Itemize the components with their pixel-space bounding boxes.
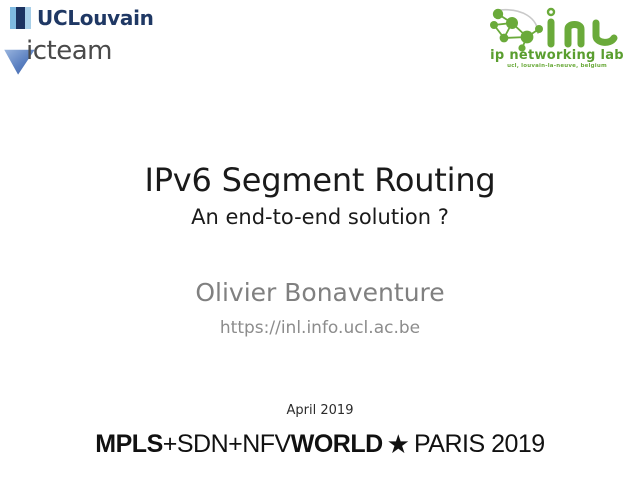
author-name: Olivier Bonaventure (0, 277, 640, 309)
inl-location: ucl, louvain-la-neuve, belgium (482, 63, 632, 69)
conference-sdn-nfv: +SDN+NFV (163, 430, 291, 459)
uclouvain-bar-dark (16, 7, 25, 29)
conference-mpls: MPLS (95, 430, 162, 459)
inl-wordmark-icon (544, 6, 632, 50)
author-block: Olivier Bonaventure https://inl.info.ucl… (0, 277, 640, 341)
conference-logo: MPLS+SDN+NFVWORLD★PARIS 2019 (0, 430, 640, 459)
uclouvain-wordmark: UCLouvain (37, 7, 154, 29)
slide-date: April 2019 (0, 403, 640, 418)
icteam-wordmark: icteam (26, 38, 112, 64)
slide-title: IPv6 Segment Routing (0, 160, 640, 200)
uclouvain-bar-pale (25, 7, 31, 29)
author-url[interactable]: https://inl.info.ucl.ac.be (0, 315, 640, 341)
title-block: IPv6 Segment Routing An end-to-end solut… (0, 160, 640, 232)
icteam-logo: icteam (2, 38, 112, 79)
uclouvain-logo: UCLouvain (10, 7, 154, 29)
uclouvain-mark-icon (10, 7, 31, 29)
inl-tagline: ip networking lab (482, 49, 632, 63)
conference-world: WORLD (291, 430, 383, 459)
conference-city-year: PARIS 2019 (414, 430, 545, 459)
slide-subtitle: An end-to-end solution ? (0, 202, 640, 232)
star-icon: ★ (387, 432, 410, 457)
inl-logo: ip networking lab ucl, louvain-la-neuve,… (482, 4, 632, 74)
network-graph-icon (482, 4, 550, 52)
presentation-slide: UCLouvain icteam (0, 0, 640, 480)
